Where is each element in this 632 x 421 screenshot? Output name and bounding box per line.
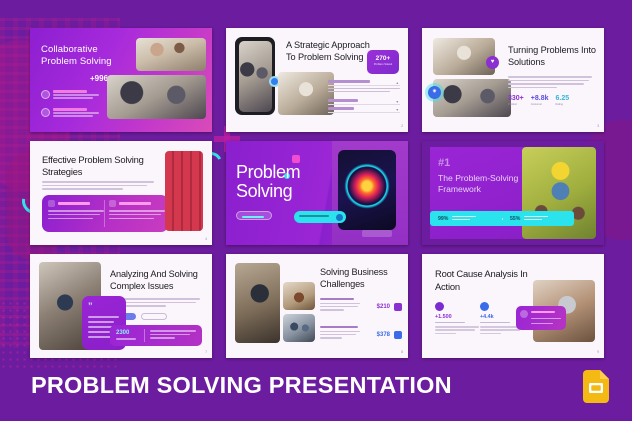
stat-rating: 6.25 Rating bbox=[556, 95, 570, 106]
slide-thumbnail-8[interactable]: Solving Business Challenges $210 $378 8 bbox=[226, 254, 408, 358]
google-slides-icon bbox=[583, 370, 609, 403]
chevron-up-icon[interactable]: ▲ bbox=[396, 81, 399, 85]
slide-1-image-top bbox=[136, 38, 206, 71]
slide-1-feature-2-line-2 bbox=[53, 115, 93, 117]
slide-3-image-top bbox=[433, 38, 495, 75]
trend-up-icon bbox=[394, 331, 402, 339]
slide-3-image-bottom bbox=[433, 79, 511, 117]
presentation-title: PROBLEM SOLVING PRESENTATION bbox=[31, 372, 452, 399]
slide-2-page-number: 2 bbox=[401, 124, 403, 128]
slide-9-stat-2-label bbox=[480, 322, 510, 324]
tooltip-icon bbox=[520, 310, 528, 318]
footer-bar: PROBLEM SOLVING PRESENTATION bbox=[0, 358, 632, 421]
slide-1-badge: +996 bbox=[90, 74, 108, 83]
chevron-down-icon[interactable]: ▼ bbox=[396, 100, 399, 104]
slide-4-strategy-2 bbox=[109, 200, 165, 222]
slide-8-title: Solving Business Challenges bbox=[320, 266, 402, 290]
slide-thumbnail-4[interactable]: Effective Problem Solving Strategies bbox=[30, 141, 212, 245]
slide-8-page-number: 8 bbox=[401, 350, 403, 354]
slide-5-chip-label bbox=[299, 215, 329, 217]
slide-5-get-started-button[interactable] bbox=[236, 211, 272, 220]
metric-growth-rate: 55% bbox=[502, 216, 574, 222]
globe-icon bbox=[435, 302, 444, 311]
slide-1-feature-2-line-1 bbox=[53, 112, 99, 114]
slide-thumbnail-6[interactable]: #1 The Problem-Solving Framework 99% 55% bbox=[422, 141, 604, 245]
feature-bullet-icon bbox=[41, 90, 50, 99]
slide-1-feature-1-label bbox=[53, 90, 87, 93]
stat-product: 330+ Product bbox=[508, 95, 524, 106]
slide-2-phone-mockup bbox=[235, 37, 275, 115]
target-icon bbox=[109, 200, 116, 207]
lightbulb-icon bbox=[48, 200, 55, 207]
stat-costumer-label: Costumer bbox=[531, 103, 549, 106]
slide-1-feature-2-label bbox=[53, 108, 87, 111]
chip-avatar-icon bbox=[336, 214, 343, 221]
slide-8-image-main bbox=[235, 263, 280, 343]
slide-thumbnail-7[interactable]: Analyzing And Solving Complex Issues ” 2… bbox=[30, 254, 212, 358]
metric-success-rate-value: 99% bbox=[438, 216, 448, 222]
stat-costumer-value: +8.8k bbox=[531, 95, 549, 102]
chevron-down-icon[interactable]: ▼ bbox=[396, 108, 399, 112]
presentation-preview-canvas: Collaborative Problem Solving +996 bbox=[0, 0, 632, 421]
slide-8-image-2 bbox=[283, 314, 315, 342]
slide-3-title: Turning Problems Into Solutions bbox=[508, 44, 596, 69]
metric-success-rate: 99% bbox=[430, 216, 502, 222]
slide-6-metrics-bar: 99% 55% bbox=[430, 211, 574, 226]
slide-9-tooltip-label bbox=[531, 311, 555, 313]
heart-icon: ♥ bbox=[486, 56, 499, 69]
slide-1-feature-1-line-2 bbox=[53, 97, 93, 99]
slide-thumbnail-grid: Collaborative Problem Solving +996 bbox=[30, 28, 604, 358]
slide-8-item-2-label bbox=[320, 326, 358, 328]
slide-4-page-number: 4 bbox=[205, 237, 207, 241]
slide-2-badge: 270+ Problem Solved bbox=[367, 50, 399, 74]
slide-9-stat-1: +1.500 bbox=[435, 302, 479, 336]
slide-1-image-main bbox=[107, 75, 206, 119]
accordion-row-3-label bbox=[328, 107, 354, 109]
slide-2-title: A Strategic Approach To Problem Solving bbox=[286, 39, 371, 63]
stat-product-value: 330+ bbox=[508, 95, 524, 102]
chart-bar-icon bbox=[394, 303, 402, 311]
slide-5-title: ProblemSolving bbox=[236, 163, 332, 201]
quote-mark-icon: ” bbox=[88, 302, 93, 311]
stat-rating-label: Rating bbox=[556, 103, 570, 106]
briefcase-icon bbox=[480, 302, 489, 311]
slide-6-number: #1 bbox=[438, 157, 450, 169]
slide-9-title: Root Cause Analysis In Action bbox=[435, 268, 535, 293]
stat-rating-value: 6.25 bbox=[556, 95, 570, 102]
slide-8-item-1-amount: $210 bbox=[377, 304, 390, 310]
slide-5-title-line-1: Problem bbox=[236, 162, 300, 182]
slide-thumbnail-1[interactable]: Collaborative Problem Solving +996 bbox=[30, 28, 212, 132]
slide-2-phone-screen-image bbox=[239, 41, 272, 112]
slide-5-title-line-2: Solving bbox=[236, 181, 292, 201]
slide-4-strategy-1-label bbox=[58, 202, 90, 204]
accordion-row-2[interactable]: ▼ bbox=[328, 97, 400, 105]
slide-thumbnail-3[interactable]: ♥ ✷ Turning Problems Into Solutions 330+… bbox=[422, 28, 604, 132]
slide-3-page-number: 3 bbox=[597, 124, 599, 128]
slide-4-title: Effective Problem Solving Strategies bbox=[42, 154, 160, 178]
slide-8-item-1: $210 bbox=[320, 298, 402, 312]
slide-2-badge-value: 270+ bbox=[367, 55, 399, 62]
slide-9-stat-1-value: +1.500 bbox=[435, 314, 479, 320]
accordion-row-3[interactable]: ▼ bbox=[328, 105, 400, 113]
slide-8-item-1-label bbox=[320, 298, 354, 300]
slide-7-stat-value: 2300 bbox=[116, 330, 129, 336]
star-icon: ✷ bbox=[428, 86, 441, 99]
slide-2-badge-label: Problem Solved bbox=[367, 63, 399, 66]
slide-thumbnail-9[interactable]: Root Cause Analysis In Action +1.500 +4.… bbox=[422, 254, 604, 358]
slide-7-details-button[interactable] bbox=[141, 313, 167, 320]
slide-8-image-1 bbox=[283, 282, 315, 310]
stat-divider bbox=[144, 329, 145, 342]
slide-3-body-text bbox=[508, 76, 592, 90]
accordion-row-1-body bbox=[328, 86, 400, 97]
card-divider bbox=[104, 200, 105, 227]
accordion-row-1[interactable]: ▲ bbox=[328, 78, 400, 86]
slide-8-item-2-amount: $378 bbox=[377, 332, 390, 338]
slide-4-body-text bbox=[42, 181, 154, 192]
stat-costumer: +8.8k Costumer bbox=[531, 95, 549, 106]
stat-product-label: Product bbox=[508, 103, 524, 106]
slide-thumbnail-2[interactable]: A Strategic Approach To Problem Solving … bbox=[226, 28, 408, 132]
feature-bullet-icon bbox=[41, 108, 50, 117]
slide-1-feature-1-line-1 bbox=[53, 94, 99, 96]
slide-7-title: Analyzing And Solving Complex Issues bbox=[110, 268, 202, 292]
slide-9-tooltip-card bbox=[516, 306, 566, 330]
slide-4-strategy-2-label bbox=[119, 202, 151, 204]
slide-7-stat-card: 2300 bbox=[110, 325, 202, 346]
slide-4-strategy-1 bbox=[48, 200, 104, 222]
metric-growth-rate-value: 55% bbox=[510, 216, 520, 222]
slide-5-button-label bbox=[242, 216, 264, 218]
slide-4-image bbox=[165, 151, 203, 231]
accordion-row-1-label bbox=[328, 80, 370, 82]
metric-growth-rate-label bbox=[524, 216, 548, 222]
slide-7-page-number: 7 bbox=[205, 350, 207, 354]
slide-4-strategy-card bbox=[42, 195, 168, 232]
slide-7-stat-label bbox=[116, 338, 136, 340]
slide-5-chip[interactable] bbox=[294, 211, 346, 223]
slide-6-title: The Problem-Solving Framework bbox=[438, 173, 530, 195]
slide-2-accordion[interactable]: ▲ ▼ ▼ bbox=[328, 78, 400, 113]
slide-8-item-2: $378 bbox=[320, 326, 402, 340]
slide-9-page-number: 9 bbox=[597, 350, 599, 354]
slide-5-neon-image bbox=[338, 150, 396, 230]
slide-7-stat-description bbox=[150, 330, 196, 341]
slide-3-stats: 330+ Product +8.8k Costumer 6.25 Rating bbox=[508, 95, 594, 106]
accordion-row-2-label bbox=[328, 99, 358, 101]
slide-5-progress-bar bbox=[362, 230, 392, 237]
slide-1-title: Collaborative Problem Solving bbox=[41, 44, 133, 67]
slide-2-image-secondary bbox=[278, 72, 334, 115]
slide-thumbnail-5[interactable]: ProblemSolving bbox=[226, 141, 408, 245]
metric-success-rate-label bbox=[452, 216, 476, 222]
slide-9-stat-1-label bbox=[435, 322, 465, 324]
